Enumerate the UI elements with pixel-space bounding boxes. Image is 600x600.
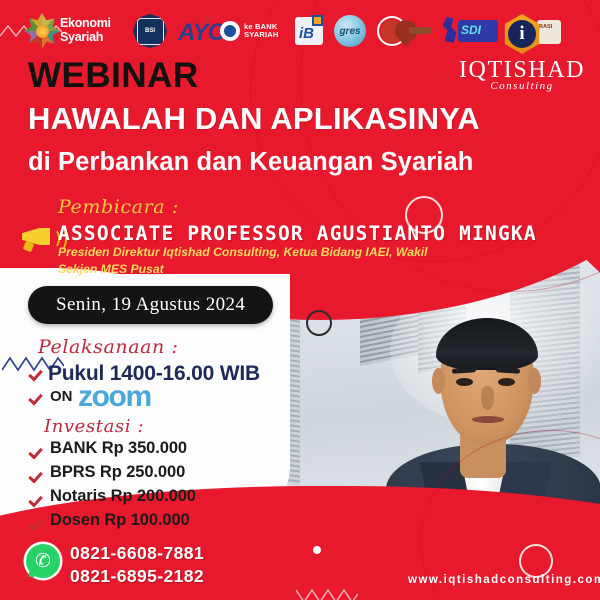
investasi-label: Investasi : xyxy=(44,416,144,437)
investasi-item-label: BANK Rp 350.000 xyxy=(50,439,187,458)
logo-line-2: SYARIAH xyxy=(244,31,278,39)
heart-logo xyxy=(375,15,433,47)
check-icon xyxy=(28,516,42,530)
partner-logo-strip: Ekonomi Syariah BSI AYO ke BANK SYARIAH … xyxy=(8,10,438,52)
headline-eyebrow: WEBINAR xyxy=(28,56,548,96)
pelaksanaan-label: Pelaksanaan : xyxy=(38,336,179,358)
list-item: BANK Rp 350.000 xyxy=(28,438,258,462)
gres-label: gres xyxy=(339,26,360,37)
ib-square-accent-icon xyxy=(314,17,321,24)
decor-circle xyxy=(519,544,553,578)
zigzag-decoration xyxy=(296,586,358,600)
check-icon xyxy=(28,444,42,458)
investasi-item-label: Notaris Rp 200.000 xyxy=(50,487,196,506)
ayo-ring-icon xyxy=(220,21,240,41)
website-url[interactable]: www.iqtishadconsulting.com xyxy=(408,574,600,586)
phone-glyph: ✆ xyxy=(35,552,51,571)
speaker-role: Presiden Direktur Iqtishad Consulting, K… xyxy=(58,244,450,278)
check-icon xyxy=(28,366,42,380)
megaphone-handle xyxy=(23,241,35,253)
platform-on-label: ON xyxy=(50,388,73,405)
speaker-eye-left xyxy=(456,378,473,386)
date-badge: Senin, 19 Agustus 2024 xyxy=(28,286,273,324)
headline-block: WEBINAR HAWALAH DAN APLIKASINYA di Perba… xyxy=(28,56,548,180)
logo-line-2: Syariah xyxy=(60,30,111,44)
whatsapp-icon[interactable]: ✆ xyxy=(26,544,60,578)
speaker-mouth xyxy=(472,416,504,423)
speaker-hair xyxy=(436,318,538,370)
investasi-list: BANK Rp 350.000 BPRS Rp 250.000 Notaris … xyxy=(28,438,258,534)
ayo-wordmark: AYO xyxy=(178,19,225,47)
contact-phone-2[interactable]: 0821-6895-2182 xyxy=(70,565,204,588)
decor-dot xyxy=(313,546,321,554)
hexagon-icon: i xyxy=(502,14,542,54)
investasi-item-label: BPRS Rp 250.000 xyxy=(50,463,185,482)
list-item: Dosen Rp 100.000 xyxy=(28,510,258,534)
contact-phone-list: 0821-6608-7881 0821-6895-2182 xyxy=(70,542,204,588)
zoom-logo: zoom xyxy=(78,380,151,414)
ib-logo: iB xyxy=(293,13,327,49)
speaker-ear-left xyxy=(432,368,445,394)
check-icon xyxy=(28,390,42,404)
headline-subtitle: di Perbankan dan Keuangan Syariah xyxy=(28,144,548,180)
bsi-label: BSI xyxy=(137,18,164,45)
ayo-sublabel: ke BANK SYARIAH xyxy=(244,23,278,39)
ayo-dot-icon xyxy=(203,15,211,23)
investasi-item-label: Dosen Rp 100.000 xyxy=(50,511,190,530)
heart-bar-shape xyxy=(409,27,431,34)
headline-title: HAWALAH DAN APLIKASINYA xyxy=(28,98,548,140)
ib-label: iB xyxy=(299,25,314,42)
logo-line-1: Ekonomi xyxy=(60,16,111,30)
list-item: BPRS Rp 250.000 xyxy=(28,462,258,486)
speaker-label: Pembicara : xyxy=(58,196,179,218)
bsi-badge-icon: BSI xyxy=(133,14,167,48)
speaker-nose xyxy=(481,386,494,410)
check-icon xyxy=(28,468,42,482)
gres-logo: gres xyxy=(334,14,368,48)
decor-circle xyxy=(306,310,332,336)
check-icon xyxy=(28,492,42,506)
contact-phone-1[interactable]: 0821-6608-7881 xyxy=(70,542,204,565)
speaker-eye-right xyxy=(498,378,515,386)
list-item: Notaris Rp 200.000 xyxy=(28,486,258,510)
ekonomi-syariah-label: Ekonomi Syariah xyxy=(60,16,111,44)
star-center-icon xyxy=(36,25,49,38)
webinar-poster: Ekonomi Syariah BSI AYO ke BANK SYARIAH … xyxy=(0,0,600,600)
ekonomi-syariah-logo: Ekonomi Syariah xyxy=(8,11,126,51)
ayo-ke-bank-syariah-logo: AYO ke BANK SYARIAH xyxy=(178,13,286,49)
brand-initial: i xyxy=(508,20,536,48)
bsi-logo: BSI xyxy=(133,12,171,50)
speaker-name: ASSOCIATE PROFESSOR AGUSTIANTO MINGKA xyxy=(58,222,537,245)
speaker-ear-right xyxy=(528,368,541,394)
globe-icon: gres xyxy=(334,15,366,47)
